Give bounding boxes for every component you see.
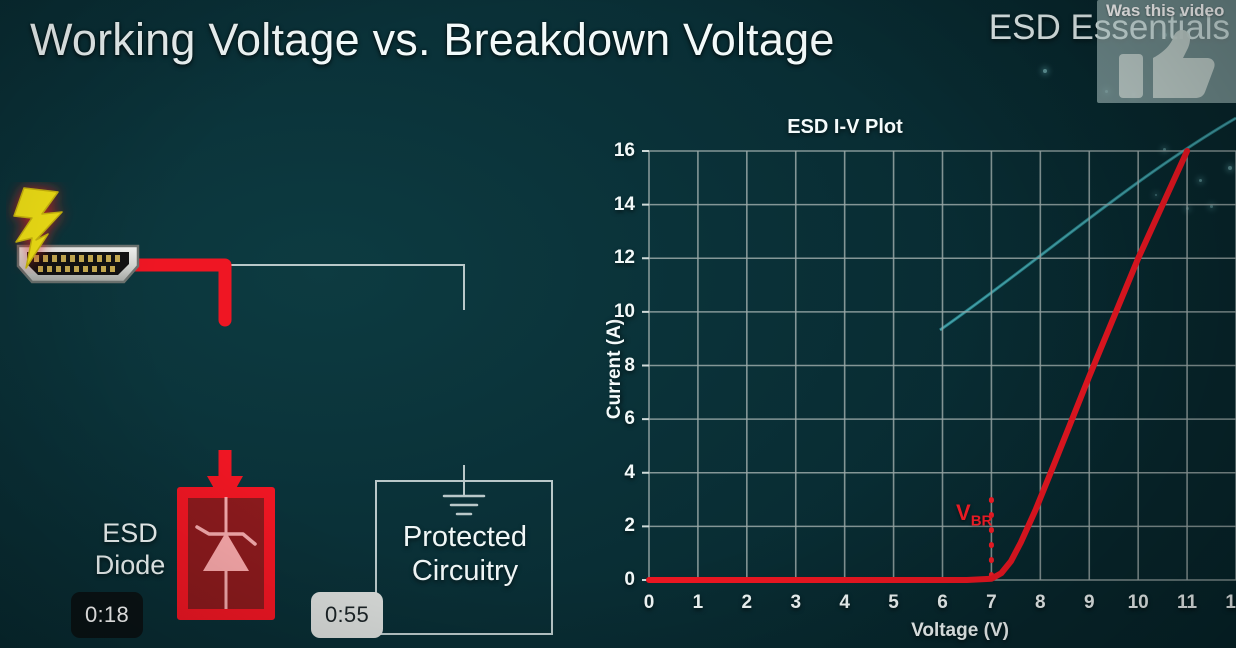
lightning-bolt-icon bbox=[6, 182, 90, 274]
vbr-label-main: V bbox=[956, 500, 971, 525]
breakdown-voltage-annotation: VBR bbox=[956, 500, 992, 529]
feedback-prompt-text: Was this video bbox=[1106, 1, 1224, 21]
circuit-diagram: ESD Diode Protected Circuitry bbox=[0, 170, 580, 550]
current-time-badge[interactable]: 0:18 bbox=[71, 592, 143, 638]
total-time-badge[interactable]: 0:55 bbox=[311, 592, 383, 638]
esd-iv-chart: ESD I-V Plot Current (A) Voltage (V) 024… bbox=[575, 108, 1236, 648]
video-feedback-overlay[interactable]: Was this video bbox=[1097, 0, 1236, 103]
tvs-zener-diode-icon bbox=[177, 487, 275, 620]
slide-canvas: Working Voltage vs. Breakdown Voltage ES… bbox=[0, 0, 1236, 648]
esd-diode-label-line2: Diode bbox=[80, 550, 180, 582]
chart-plot-area bbox=[575, 108, 1236, 648]
protected-circuitry-label: Protected Circuitry bbox=[375, 520, 555, 588]
protected-label-line2: Circuitry bbox=[375, 554, 555, 588]
particle bbox=[1043, 69, 1047, 73]
vbr-label-sub: BR bbox=[971, 512, 993, 529]
thumbs-up-icon[interactable] bbox=[1117, 28, 1217, 100]
esd-diode-component bbox=[177, 487, 275, 620]
protected-label-line1: Protected bbox=[375, 520, 555, 554]
page-title: Working Voltage vs. Breakdown Voltage bbox=[30, 14, 835, 66]
esd-diode-label: ESD Diode bbox=[80, 518, 180, 582]
esd-diode-label-line1: ESD bbox=[80, 518, 180, 550]
